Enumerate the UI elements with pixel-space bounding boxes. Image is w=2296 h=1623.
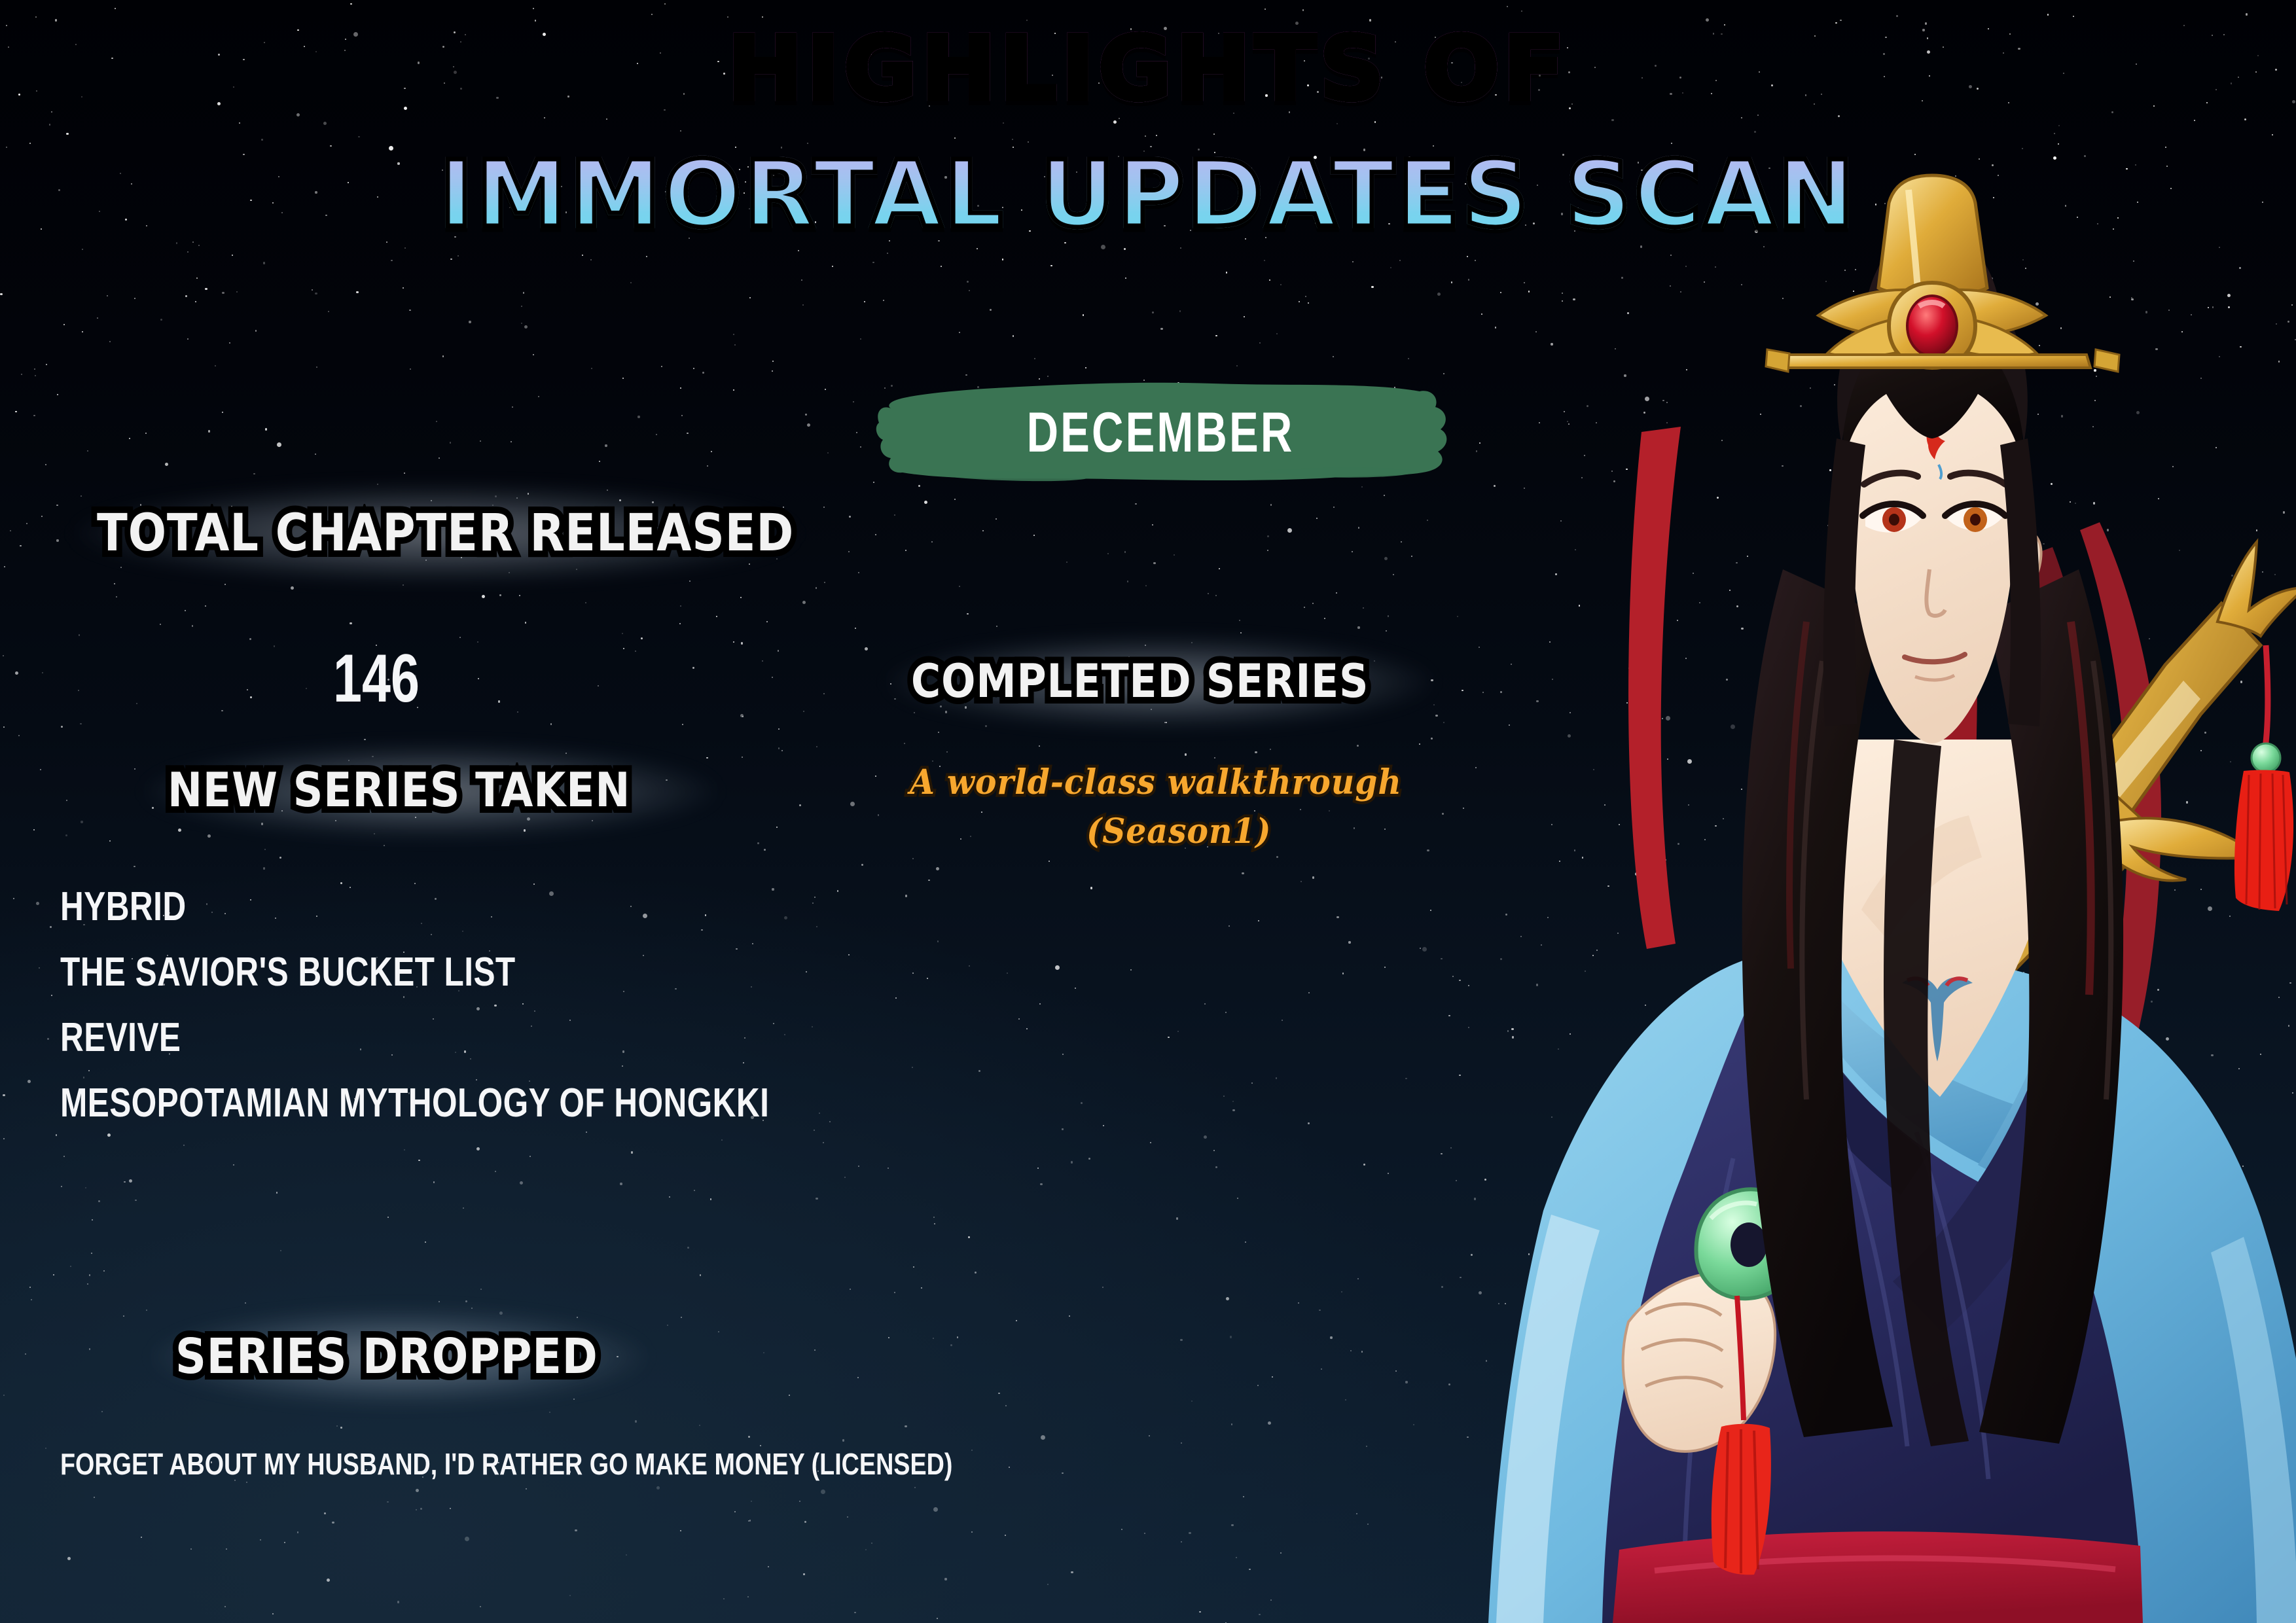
outer-robe	[1488, 941, 2296, 1623]
face	[1847, 342, 2041, 743]
series-dropped-heading: SERIES DROPPED	[175, 1329, 598, 1385]
total-chapter-heading: TOTAL CHAPTER RELEASED	[97, 504, 794, 563]
completed-series-season: (Season1)	[1086, 811, 1271, 851]
list-item: HYBRID	[60, 883, 187, 930]
poster-canvas: HIGHLIGHTS OF IMMORTAL UPDATES SCAN DECE…	[0, 0, 2296, 1623]
month-badge: DECEMBER	[872, 374, 1448, 489]
month-badge-label: DECEMBER	[936, 374, 1385, 489]
hand-with-jade-pendant	[1623, 1189, 1800, 1575]
phoenix-sword	[1933, 522, 2296, 1080]
poster-title-line-1: HIGHLIGHTS OF	[0, 25, 2296, 113]
inner-robe	[1796, 969, 2113, 1195]
list-item: REVIVE	[60, 1014, 181, 1061]
long-black-hair	[1742, 569, 2123, 1446]
poster-title-line-2: IMMORTAL UPDATES SCAN	[0, 149, 2296, 241]
completed-series-heading: COMPLETED SERIES	[911, 654, 1369, 708]
list-item: MESOPOTAMIAN MYTHOLOGY OF HONGKKI	[60, 1080, 769, 1126]
total-chapter-value: 146	[90, 640, 662, 718]
list-item: FORGET ABOUT MY HUSBAND, I'D RATHER GO M…	[60, 1446, 952, 1482]
red-waist-sash	[1613, 1531, 2143, 1623]
crown-ribbons	[1628, 423, 1977, 955]
hair-updo-and-bangs	[1823, 229, 2041, 726]
new-series-heading: NEW SERIES TAKEN	[168, 762, 630, 817]
navy-hanfu-robe	[1602, 963, 2140, 1623]
list-item: THE SAVIOR'S BUCKET LIST	[60, 949, 516, 995]
neck-and-chest	[1827, 740, 2039, 1097]
completed-series-title: A world-class walkthrough	[910, 762, 1402, 802]
